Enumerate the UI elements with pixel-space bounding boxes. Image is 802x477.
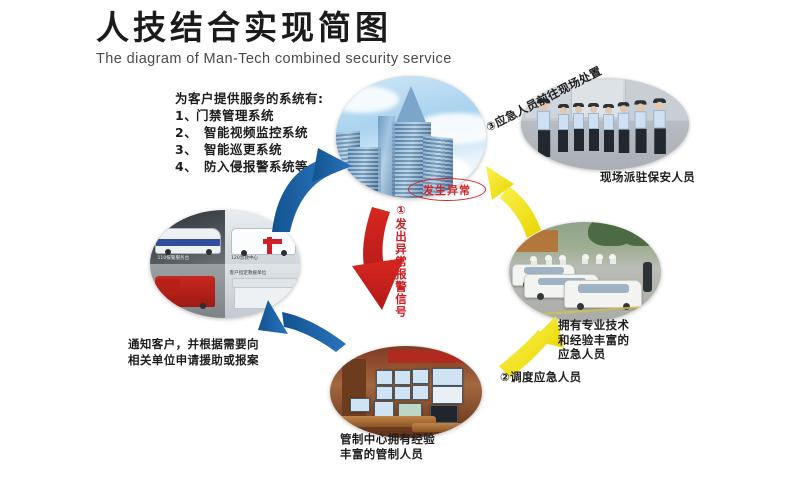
caption-line: 相关单位申请援助或报案 <box>128 352 259 368</box>
caption-110: 110报警服务台 <box>158 255 190 261</box>
guard-pants <box>653 129 665 155</box>
guard-body <box>610 259 616 264</box>
caption-rescue-unit: 客户指定救援单位 <box>230 270 267 276</box>
desk-monitor <box>350 398 370 413</box>
caption-control-room: 管制中心拥有经验 丰富的管制人员 <box>340 432 435 462</box>
car-window <box>578 284 628 293</box>
quadrant-rescue-tent: 客户指定救援单位 <box>225 264 300 318</box>
page-title-en: The diagram of Man-Tech combined securit… <box>96 51 616 67</box>
guard-body <box>546 260 552 265</box>
guard-helmet <box>596 254 603 263</box>
caption-notify-client: 通知客户，并根据需要向 相关单位申请援助或报案 <box>128 336 259 368</box>
guard-figure <box>618 102 630 153</box>
guard-body <box>560 260 566 265</box>
guard-head <box>620 105 627 112</box>
guard-figure <box>573 103 584 151</box>
guard-head <box>590 106 597 113</box>
quadrant-ambulance: 120急救中心 <box>225 210 300 264</box>
guard-helmet <box>609 254 616 263</box>
guard-head <box>575 106 582 113</box>
caption-line: 通知客户，并根据需要向 <box>128 336 259 352</box>
guard-body <box>596 259 602 264</box>
patrol-car <box>564 280 642 308</box>
red-cross <box>263 239 282 244</box>
item-text: 防入侵报警系统等 <box>192 159 308 174</box>
photo-emergency-vehicles: 110报警服务台 120急救中心 <box>150 210 300 318</box>
truck-cab <box>156 279 180 294</box>
caption-line: 丰富的管制人员 <box>340 447 435 462</box>
guard-head <box>560 107 567 114</box>
car-wheel <box>165 249 171 255</box>
flow-step1-label: ①发出异常报警信号 <box>393 203 408 318</box>
building-edge <box>378 116 395 198</box>
palm-tree <box>621 222 661 246</box>
flow-step2-label: ②调度应急人员 <box>500 370 582 385</box>
quadrant-fire-truck <box>150 264 225 318</box>
item-text: 智能视频监控系统 <box>192 125 308 140</box>
fire-truck <box>155 276 215 307</box>
car-wheel <box>537 293 544 300</box>
item-number: 1、 <box>175 107 192 124</box>
wall-monitor <box>376 386 393 401</box>
rescue-tent <box>234 285 293 310</box>
tent-roof <box>232 278 298 288</box>
building-roof <box>512 230 558 252</box>
item-number: 2、 <box>175 124 192 141</box>
ceiling-panel <box>388 350 482 364</box>
guard-shirt <box>635 112 647 130</box>
guard-helmet <box>559 255 566 264</box>
item-text: 智能巡更系统 <box>192 142 282 157</box>
standing-officer <box>643 262 652 292</box>
arrow-yellow-to-cars <box>499 316 564 378</box>
guard-shirt <box>618 112 630 129</box>
guard-helmet <box>582 254 589 263</box>
truck-wheel <box>164 303 170 309</box>
guard-figure <box>558 104 569 152</box>
car-wheel <box>281 250 287 256</box>
guard-figure <box>588 103 599 151</box>
item-text: 门禁管理系统 <box>192 108 274 123</box>
status-badge-label: 发生异常 <box>423 182 471 198</box>
wall-monitor-large <box>432 368 463 386</box>
building-left2 <box>348 147 381 198</box>
caption-120: 120急救中心 <box>231 255 258 261</box>
caption-emergency-staff: 拥有专业技术 和经验丰富的 应急人员 <box>558 318 629 362</box>
item-number: 4、 <box>175 158 192 175</box>
guard-shirt <box>603 114 614 130</box>
diagram-canvas: 人技结合实现简图 The diagram of Man-Tech combine… <box>0 0 802 477</box>
caption-line: 和经验丰富的 <box>558 333 629 348</box>
guard-shirt <box>537 111 550 131</box>
guard-shirt <box>588 113 599 129</box>
caption-line: 管制中心拥有经验 <box>340 432 435 447</box>
guard-pants <box>635 129 646 153</box>
caption-line: 应急人员 <box>558 347 629 362</box>
title-block: 人技结合实现简图 The diagram of Man-Tech combine… <box>96 8 616 67</box>
item-number: 3、 <box>175 141 192 158</box>
guard-head <box>605 107 612 114</box>
photo-control-room <box>330 346 482 438</box>
photo-patrol-cars <box>509 222 661 322</box>
cloud <box>336 86 399 113</box>
ambulance <box>231 228 296 255</box>
guard-figure <box>635 101 647 154</box>
guard-pants <box>589 129 599 151</box>
guard-shirt <box>653 110 666 129</box>
guard-pants <box>604 130 614 152</box>
caption-line: 拥有专业技术 <box>558 318 629 333</box>
wall-monitor <box>394 370 411 385</box>
caption-guards: 现场派驻保安人员 <box>600 170 695 185</box>
quadrant-police: 110报警服务台 <box>150 210 225 264</box>
guard-pants <box>574 129 584 151</box>
wall-monitor <box>394 386 411 401</box>
police-stripe <box>156 239 221 245</box>
truck-wheel <box>200 303 206 309</box>
guard-pants <box>537 130 549 157</box>
guard-figure <box>653 99 666 155</box>
guard-helmet <box>545 255 552 264</box>
car-wheel <box>206 249 212 255</box>
status-badge-abnormal: 发生异常 <box>408 178 486 201</box>
guard-body <box>531 261 537 266</box>
guard-shirt <box>573 113 584 129</box>
wall-monitor-large <box>432 386 463 404</box>
page-title-cn: 人技结合实现简图 <box>96 8 616 48</box>
guard-pants <box>619 129 630 152</box>
guard-body <box>582 259 588 264</box>
wall-monitor <box>412 369 429 384</box>
guard-helmet <box>530 256 537 265</box>
car-wheel <box>577 303 584 310</box>
guard-pants <box>558 130 568 152</box>
guard-figure <box>603 104 614 152</box>
guard-shirt <box>558 114 569 130</box>
wall-monitor <box>412 385 429 400</box>
wall-monitor <box>376 370 393 385</box>
desk-monitor <box>374 401 394 417</box>
police-car <box>155 228 222 254</box>
